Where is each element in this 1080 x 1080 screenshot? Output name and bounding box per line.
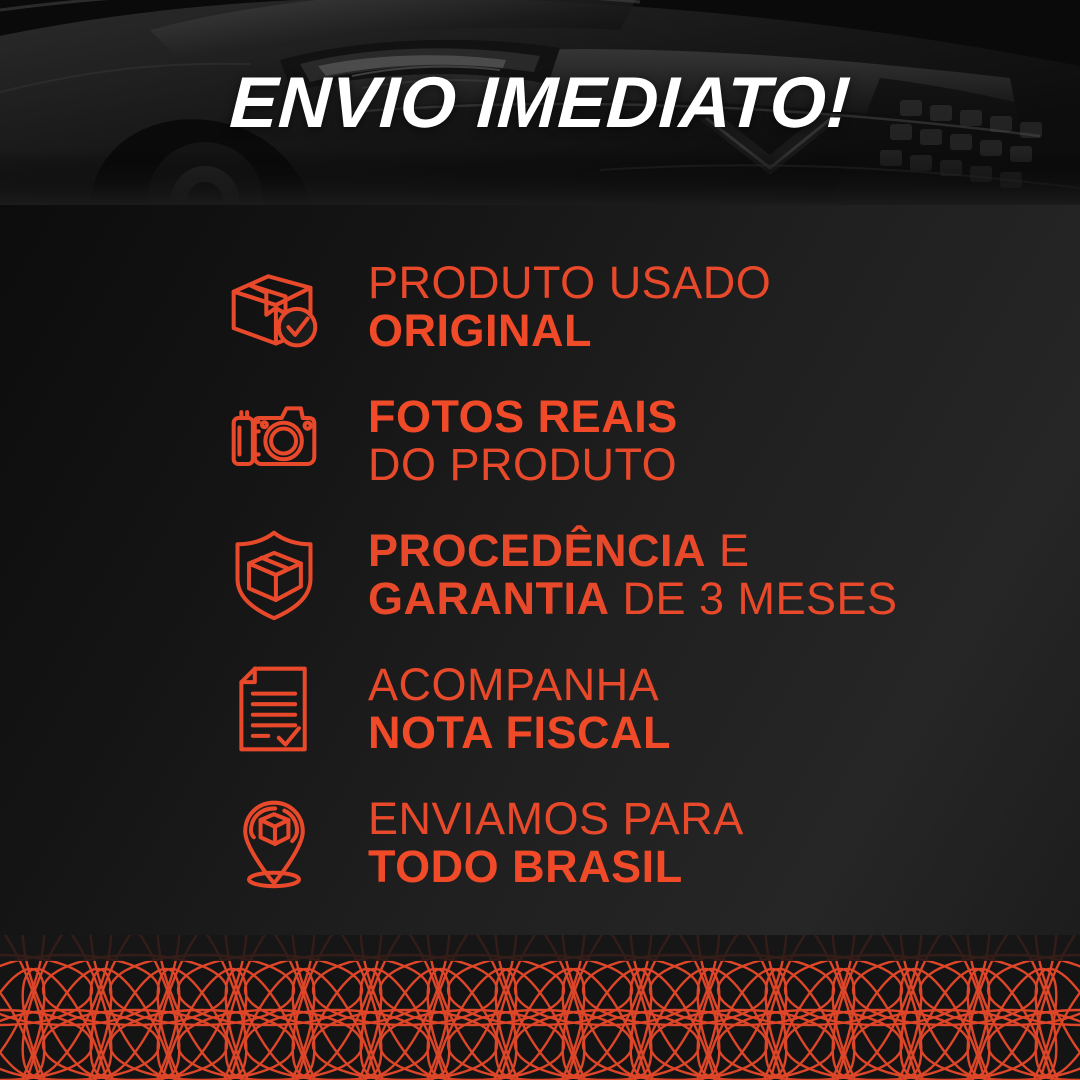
feature-list: PRODUTO USADO ORIGINAL bbox=[0, 240, 1080, 910]
feature-text: PRODUTO USADO ORIGINAL bbox=[368, 259, 771, 354]
feature-item-fotos-reais: FOTOS REAIS DO PRODUTO bbox=[0, 374, 1080, 508]
feature-line-2: DO PRODUTO bbox=[368, 441, 678, 489]
geometric-spirograph-pattern bbox=[0, 935, 1080, 1080]
feature-line-1: PRODUTO USADO bbox=[368, 259, 771, 307]
feature-line-2: ORIGINAL bbox=[368, 307, 771, 355]
feature-item-nota-fiscal: ACOMPANHA NOTA FISCAL bbox=[0, 642, 1080, 776]
camera-icon bbox=[222, 389, 326, 493]
feature-item-todo-brasil: ENVIAMOS PARA TODO BRASIL bbox=[0, 776, 1080, 910]
feature-item-procedencia-garantia: PROCEDÊNCIA E GARANTIA DE 3 MESES bbox=[0, 508, 1080, 642]
shield-box-icon bbox=[222, 523, 326, 627]
hero-title: ENVIO IMEDIATO! bbox=[0, 0, 1080, 205]
feature-text: ENVIAMOS PARA TODO BRASIL bbox=[368, 795, 744, 890]
feature-line-2-rest: DE 3 MESES bbox=[609, 573, 897, 624]
map-pin-box-icon bbox=[222, 791, 326, 895]
feature-line-2: TODO BRASIL bbox=[368, 843, 744, 891]
feature-line-1: ENVIAMOS PARA bbox=[368, 795, 744, 843]
hero-title-text: ENVIO IMEDIATO! bbox=[227, 62, 852, 144]
feature-line-1: ACOMPANHA bbox=[368, 661, 671, 709]
feature-line-2: GARANTIA DE 3 MESES bbox=[368, 575, 898, 623]
footer-pattern bbox=[0, 935, 1080, 1080]
promo-banner: ENVIO IMEDIATO! PRODUTO USADO ORIGINAL bbox=[0, 0, 1080, 1080]
feature-line-1-strong: PROCEDÊNCIA bbox=[368, 525, 706, 576]
feature-line-1: FOTOS REAIS bbox=[368, 393, 678, 441]
feature-item-produto-original: PRODUTO USADO ORIGINAL bbox=[0, 240, 1080, 374]
feature-text: FOTOS REAIS DO PRODUTO bbox=[368, 393, 678, 488]
feature-line-2-strong: GARANTIA bbox=[368, 573, 609, 624]
invoice-document-check-icon bbox=[222, 657, 326, 761]
feature-line-1: PROCEDÊNCIA E bbox=[368, 527, 898, 575]
feature-text: PROCEDÊNCIA E GARANTIA DE 3 MESES bbox=[368, 527, 898, 622]
feature-text: ACOMPANHA NOTA FISCAL bbox=[368, 661, 671, 756]
box-check-icon bbox=[222, 255, 326, 359]
feature-line-2: NOTA FISCAL bbox=[368, 709, 671, 757]
feature-line-1-rest: E bbox=[706, 525, 750, 576]
hero-header: ENVIO IMEDIATO! bbox=[0, 0, 1080, 205]
